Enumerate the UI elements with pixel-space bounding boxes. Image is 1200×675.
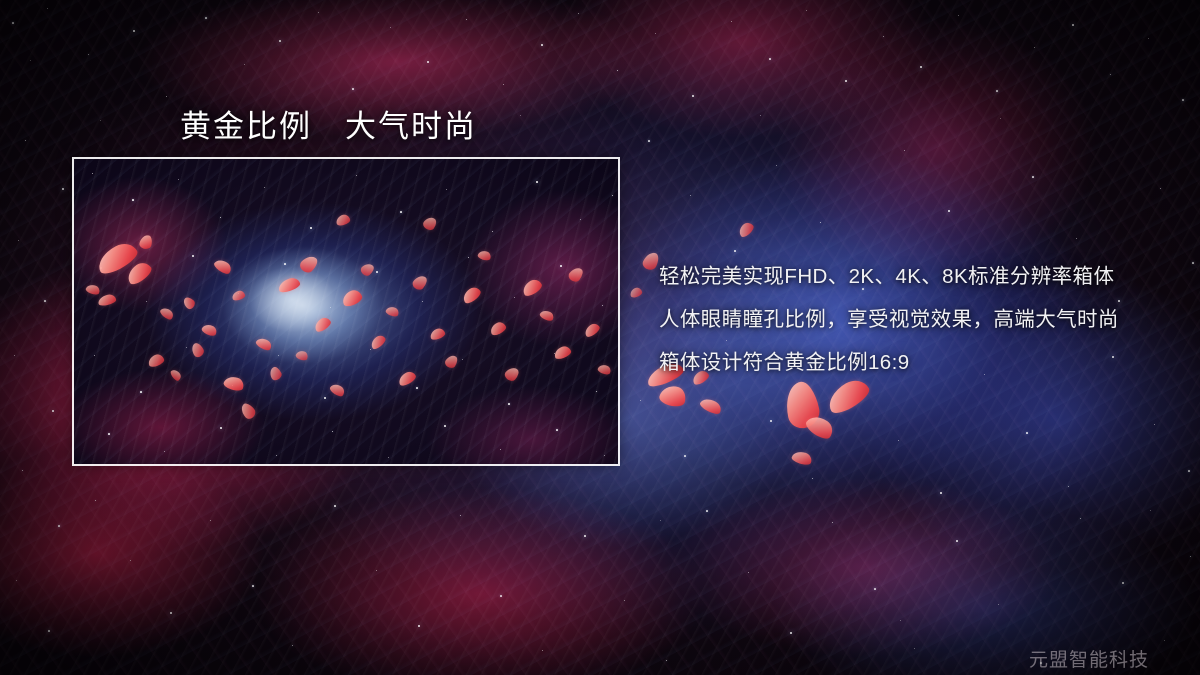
star-point [1190, 556, 1191, 557]
star-point [812, 478, 813, 479]
star-point [612, 195, 613, 196]
star-point [108, 433, 110, 435]
star-point [492, 231, 493, 232]
star-point [446, 189, 447, 190]
star-point [376, 271, 378, 273]
star-point [1034, 47, 1035, 48]
star-point [292, 645, 293, 646]
star-point [1150, 510, 1151, 511]
star-point [130, 560, 131, 561]
star-point [1160, 188, 1161, 189]
star-point [140, 391, 142, 393]
flower-petal [736, 220, 755, 239]
star-point [832, 522, 833, 523]
star-point [770, 420, 772, 422]
star-point [30, 60, 31, 61]
star-point [284, 263, 286, 265]
star-point [334, 505, 336, 507]
star-point [232, 385, 233, 386]
star-point [278, 355, 279, 356]
star-point [186, 347, 187, 348]
star-point [166, 96, 167, 97]
star-point [95, 500, 96, 501]
company-watermark: 元盟智能科技 [1029, 645, 1149, 672]
star-point [332, 431, 333, 432]
star-point [279, 40, 281, 42]
star-point [18, 240, 19, 241]
star-point [948, 210, 950, 212]
star-point [264, 187, 265, 188]
star-point [1110, 74, 1111, 75]
star-point [370, 349, 371, 350]
star-point [920, 66, 922, 68]
star-point [684, 455, 686, 457]
star-point [1026, 432, 1028, 434]
star-point [220, 427, 222, 429]
star-point [1164, 640, 1165, 641]
star-point [898, 440, 899, 441]
star-point [12, 22, 14, 24]
star-point [100, 120, 101, 121]
star-point [806, 10, 807, 11]
flower-petal [782, 379, 823, 431]
star-point [958, 15, 959, 16]
star-point [178, 179, 179, 180]
star-point [16, 580, 17, 581]
frame-starfield [74, 159, 618, 464]
star-point [1076, 238, 1077, 239]
star-point [356, 175, 357, 176]
star-point [731, 21, 732, 22]
star-point [205, 17, 207, 19]
star-point [276, 455, 277, 456]
star-point [604, 455, 605, 456]
star-point [220, 217, 221, 218]
star-point [376, 570, 377, 571]
star-point [541, 44, 543, 46]
star-point [164, 451, 165, 452]
star-point [14, 355, 15, 356]
star-point [192, 255, 194, 257]
star-point [1122, 582, 1124, 584]
star-point [252, 585, 254, 587]
page-title: 黄金比例 大气时尚 [180, 101, 477, 146]
star-point [22, 470, 23, 471]
star-point [88, 54, 89, 55]
body-text-block: 轻松完美实现FHD、2K、4K、8K标准分辨率箱体 人体眼睛瞳孔比例，享受视觉效… [659, 255, 1179, 384]
star-point [416, 387, 418, 389]
star-point [602, 305, 603, 306]
star-point [94, 355, 95, 356]
body-line-2: 人体眼睛瞳孔比例，享受视觉效果，高端大气时尚 [659, 298, 1179, 341]
star-point [508, 403, 510, 405]
star-point [462, 359, 463, 360]
star-point [760, 115, 761, 116]
flower-petal [791, 449, 814, 467]
framed-display-image[interactable] [72, 157, 620, 466]
star-point [132, 199, 134, 201]
star-point [776, 165, 777, 166]
star-point [330, 307, 331, 308]
star-point [1068, 486, 1069, 487]
star-point [883, 36, 884, 37]
star-point [503, 84, 504, 85]
star-point [648, 140, 650, 142]
star-point [133, 30, 135, 32]
star-point [62, 188, 64, 190]
star-point [1148, 38, 1149, 39]
star-point [1188, 470, 1190, 472]
star-point [580, 219, 581, 220]
star-point [769, 58, 771, 60]
star-point [44, 300, 46, 302]
star-point [238, 293, 239, 294]
star-point [660, 520, 661, 521]
star-point [390, 27, 391, 28]
star-point [536, 181, 538, 183]
star-point [25, 140, 26, 141]
star-point [352, 88, 354, 90]
star-point [748, 572, 749, 573]
star-point [100, 267, 102, 269]
star-point [460, 515, 461, 516]
star-point [554, 353, 555, 354]
star-point [324, 397, 326, 399]
star-point [520, 115, 521, 116]
star-point [820, 222, 821, 223]
star-point [940, 492, 942, 494]
star-point [790, 632, 792, 634]
star-point [310, 227, 312, 229]
star-point [655, 33, 656, 34]
slide-canvas: 黄金比例 大气时尚 轻松完美实现FHD、2K、4K、8K标准分辨率箱体 人体眼睛… [0, 0, 1200, 675]
star-point [914, 648, 915, 649]
star-point [500, 595, 502, 597]
flower-petal [629, 286, 643, 298]
flower-petal [803, 412, 836, 443]
star-point [400, 211, 402, 213]
star-point [692, 95, 694, 97]
star-point [146, 301, 147, 302]
star-point [874, 588, 876, 590]
flower-petal [698, 396, 723, 417]
star-point [500, 449, 501, 450]
star-point [556, 429, 558, 431]
star-point [444, 425, 446, 427]
star-point [578, 13, 579, 14]
star-point [1000, 118, 1001, 119]
body-line-1: 轻松完美实现FHD、2K、4K、8K标准分辨率箱体 [659, 255, 1179, 298]
star-point [706, 510, 708, 512]
star-point [1182, 99, 1184, 101]
star-point [92, 173, 93, 174]
star-point [998, 604, 999, 605]
star-point [1032, 176, 1034, 178]
star-point [466, 19, 467, 20]
star-point [617, 70, 618, 71]
star-point [468, 257, 469, 258]
body-line-3: 箱体设计符合黄金比例16:9 [659, 341, 1179, 384]
star-point [47, 8, 48, 9]
star-point [666, 660, 667, 661]
star-point [58, 525, 60, 527]
star-point [560, 265, 562, 267]
star-point [956, 540, 958, 542]
star-point [170, 612, 172, 614]
star-point [690, 195, 691, 196]
star-point [542, 650, 543, 651]
star-point [596, 391, 597, 392]
star-point [1080, 518, 1081, 519]
star-point [427, 61, 429, 63]
flower-petal [658, 383, 688, 409]
star-point [244, 64, 245, 65]
star-point [52, 410, 54, 412]
star-point [422, 301, 423, 302]
star-point [514, 297, 515, 298]
star-point [1154, 424, 1155, 425]
star-point [900, 620, 901, 621]
star-point [210, 520, 211, 521]
star-point [388, 457, 389, 458]
star-point [904, 150, 905, 151]
star-point [1072, 24, 1074, 26]
star-point [640, 400, 641, 401]
star-point [1192, 262, 1194, 264]
star-point [624, 600, 625, 601]
star-point [318, 12, 319, 13]
star-point [48, 630, 50, 632]
star-point [845, 80, 847, 82]
star-point [734, 250, 736, 252]
star-point [418, 625, 420, 627]
star-point [584, 535, 586, 537]
star-point [996, 90, 998, 92]
